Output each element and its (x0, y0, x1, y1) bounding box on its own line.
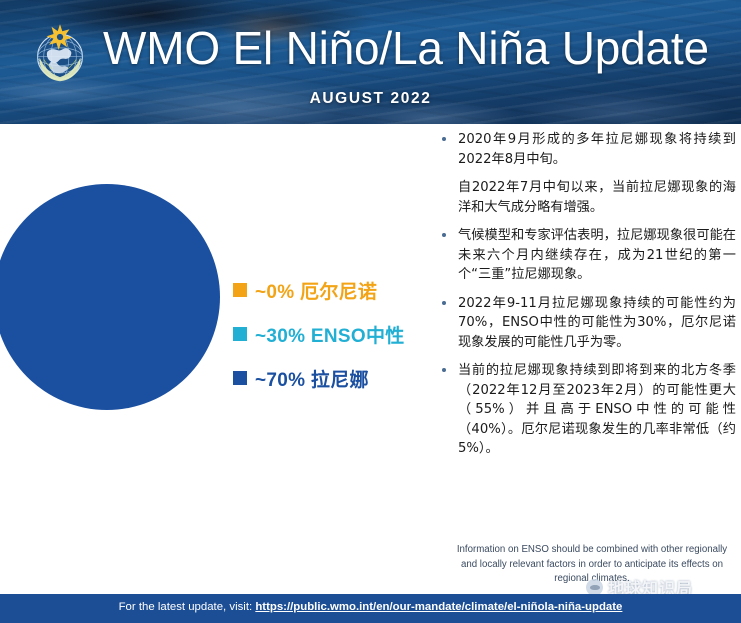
bullet-paragraph: 2022年9-11月拉尼娜现象持续的可能性约为70%，ENSO中性的可能性为30… (458, 294, 736, 353)
legend-item-el-nino: ~0% 厄尔尼诺 (233, 268, 433, 312)
watermark-badge-icon (586, 579, 603, 596)
legend-label-la-nina: ~70% 拉尼娜 (255, 365, 369, 392)
slide-root: WMO El Niño/La Niña Update AUGUST 2022 ~… (0, 0, 741, 623)
legend-item-enso-neutral: ~30% ENSO中性 (233, 312, 433, 356)
bullet-block: 当前的拉尼娜现象持续到即将到来的北方冬季（2022年12月至2023年2月）的可… (434, 361, 736, 459)
legend-item-la-nina: ~70% 拉尼娜 (233, 356, 433, 400)
bullet-paragraph: 2020年9月形成的多年拉尼娜现象将持续到2022年8月中旬。 (458, 130, 736, 169)
bullet-text-column: 2020年9月形成的多年拉尼娜现象将持续到2022年8月中旬。自2022年7月中… (434, 130, 736, 530)
page-title: WMO El Niño/La Niña Update (103, 21, 709, 75)
bullet-paragraph: 自2022年7月中旬以来，当前拉尼娜现象的海洋和大气成分略有增强。 (458, 178, 736, 217)
bullet-block: 2022年9-11月拉尼娜现象持续的可能性约为70%，ENSO中性的可能性为30… (434, 294, 736, 353)
legend-label-el-nino: ~0% 厄尔尼诺 (255, 277, 377, 304)
bullet-dot-icon (442, 233, 446, 237)
bullet-paragraph: 气候模型和专家评估表明，拉尼娜现象很可能在未来六个月内继续存在，成为21世纪的第… (458, 226, 736, 285)
header-banner: WMO El Niño/La Niña Update AUGUST 2022 (0, 0, 741, 124)
bullet-dot-icon (442, 368, 446, 372)
enso-probability-pie-chart (0, 184, 220, 410)
bullet-paragraph: 当前的拉尼娜现象持续到即将到来的北方冬季（2022年12月至2023年2月）的可… (458, 361, 736, 459)
footer-url-link[interactable]: https://public.wmo.int/en/our-mandate/cl… (255, 601, 622, 613)
footer-bar: For the latest update, visit: https://pu… (0, 594, 741, 623)
bullet-block: 2020年9月形成的多年拉尼娜现象将持续到2022年8月中旬。 (434, 130, 736, 169)
bullet-dot-icon (442, 301, 446, 305)
bullet-block: 自2022年7月中旬以来，当前拉尼娜现象的海洋和大气成分略有增强。 (434, 178, 736, 217)
header-subtitle: AUGUST 2022 (0, 90, 741, 108)
footer-prefix: For the latest update, visit: (119, 601, 256, 613)
bullet-dot-icon (442, 137, 446, 141)
bullet-block: 气候模型和专家评估表明，拉尼娜现象很可能在未来六个月内继续存在，成为21世纪的第… (434, 226, 736, 285)
legend-label-enso-neutral: ~30% ENSO中性 (255, 321, 405, 348)
legend-swatch-el-nino (233, 283, 247, 297)
legend-swatch-enso-neutral (233, 327, 247, 341)
wmo-logo (26, 20, 94, 88)
chart-legend: ~0% 厄尔尼诺 ~30% ENSO中性 ~70% 拉尼娜 (233, 268, 433, 400)
footer-text: For the latest update, visit: https://pu… (0, 594, 741, 613)
legend-swatch-la-nina (233, 371, 247, 385)
chart-area: ~0% 厄尔尼诺 ~30% ENSO中性 ~70% 拉尼娜 (0, 124, 430, 594)
